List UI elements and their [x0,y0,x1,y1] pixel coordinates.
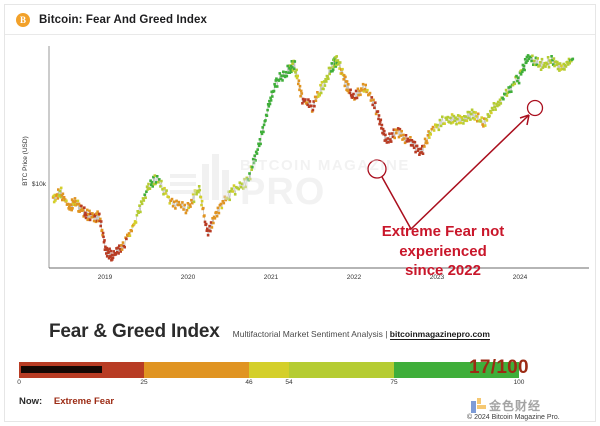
scatter-point [369,92,372,95]
current-point-circle-icon [528,101,543,116]
scatter-point [143,193,146,196]
fear-greed-index-heading: Fear & Greed Index Multifactorial Market… [49,321,490,343]
gauge-bar [19,362,519,378]
scatter-point [304,98,307,101]
score-value: 17/100 [469,357,529,379]
scatter-point [439,119,442,122]
scatter-point [243,178,246,181]
x-tick-label: 2021 [264,274,279,281]
scatter-point [60,187,63,190]
scatter-point [349,89,352,92]
scatter-point [293,67,296,70]
scatter-point [428,136,431,139]
scatter-point [465,115,468,118]
scatter-point [241,183,244,186]
x-tick-label: 2022 [347,274,362,281]
status-badge: Extreme Fear [54,396,114,407]
scatter-point [374,101,377,104]
x-tick-label: 2024 [513,274,528,281]
scatter-point [237,188,240,191]
scatter-point [63,196,66,199]
scatter-point [341,68,344,71]
gauge-value-indicator [21,366,102,373]
scatter-point [493,102,496,105]
scatter-point [232,190,235,193]
scatter-point [181,201,184,204]
scatter-point [550,55,553,58]
scatter-point [169,202,172,205]
scatter-point [443,122,446,125]
scatter-point [253,162,256,165]
scatter-point [366,89,369,92]
scatter-point [120,244,123,247]
scatter-point [447,116,450,119]
scatter-point [319,84,322,87]
scatter-point [426,142,429,145]
scatter-point [408,139,411,142]
scatter-point [259,138,262,141]
scatter-point [122,241,125,244]
now-label: Now: [19,396,42,407]
scatter-point [210,221,213,224]
scatter-point [370,99,373,102]
scatter-point [460,116,463,119]
scatter-point [269,103,272,106]
jinse-logo-icon [471,398,486,413]
last-extreme-fear-circle-icon [368,160,386,178]
scatter-point [159,185,162,188]
scatter-point [294,60,297,63]
scatter-point [200,196,203,199]
scatter-point [440,125,443,128]
scatter-point [477,113,480,116]
scatter-point [71,207,74,210]
scatter-point [244,186,247,189]
scatter-point [174,207,177,210]
gauge-tick: 75 [390,379,397,386]
scatter-point [242,187,245,190]
gauge-tick-labels: 025465475100 [19,379,519,391]
scatter-point [239,181,242,184]
scatter-point [108,248,111,251]
scatter-point [395,132,398,135]
scatter-point [400,130,403,133]
scatter-point [372,99,375,102]
scatter-point [427,134,430,137]
scatter-point [135,221,138,224]
scatter-point [411,144,414,147]
scatter-point [371,96,374,99]
scatter-point [429,133,432,136]
scatter-point [216,215,219,218]
scatter-point [403,137,406,140]
scatter-point [480,116,483,119]
scatter-point [88,210,91,213]
scatter-point [423,145,426,148]
scatter-point [572,58,575,61]
card-header: B Bitcoin: Fear And Greed Index [5,5,595,35]
scatter-point [301,92,304,95]
scatter-point [299,95,302,98]
scatter-point [490,112,493,115]
y-axis-label: BTC Price (USD) [22,136,29,185]
scatter-point [373,107,376,110]
scatter-point [102,232,105,235]
scatter-point [402,134,405,137]
current-status: Now: Extreme Fear [19,396,114,407]
gauge-tick: 100 [514,379,525,386]
scatter-point [380,119,383,122]
bitcoin-coin-icon: B [16,13,30,27]
scatter-point [259,143,262,146]
scatter-point [510,90,513,93]
scatter-point [54,199,57,202]
scatter-point [420,148,423,151]
jinse-finance-watermark: 金色财经 [471,397,541,414]
scatter-point [56,197,59,200]
gauge-segment [144,362,249,378]
scatter-point [298,79,301,82]
scatter-point [466,120,469,123]
scatter-point [82,209,85,212]
scatter-point [240,186,243,189]
scatter-point [531,55,534,58]
scatter-point [492,109,495,112]
scatter-point [173,201,176,204]
scatter-point [544,65,547,68]
scatter-point [87,213,90,216]
scatter-point [456,118,459,121]
scatter-point [546,63,549,66]
scatter-point [285,71,288,74]
scatter-point [295,69,298,72]
scatter-point [266,109,269,112]
scatter-point [417,148,420,151]
scatter-point [514,83,517,86]
scatter-point [339,61,342,64]
scatter-point [324,84,327,87]
scatter-point [327,78,330,81]
scatter-point [211,226,214,229]
x-tick-label: 2020 [181,274,196,281]
scatter-point [359,94,362,97]
v-arrow-icon [382,115,529,229]
scatter-point [163,187,166,190]
scatter-point [271,95,274,98]
scatter-point [390,140,393,143]
scatter-point [347,83,350,86]
scatter-point [178,201,181,204]
scatter-point [250,168,253,171]
scatter-point [253,154,256,157]
scatter-point [100,220,103,223]
gauge-tick: 46 [245,379,252,386]
scatter-point [125,238,128,241]
scatter-point [461,119,464,122]
scatter-point [548,66,551,69]
scatter-point [256,152,259,155]
scatter-point [228,199,231,202]
scatter-point [352,93,355,96]
scatter-point [358,90,361,93]
scatter-point [199,189,202,192]
scatter-point [102,236,105,239]
scatter-point [74,197,77,200]
scatter-point [157,181,160,184]
scatter-point [261,126,264,129]
scatter-point [280,74,283,77]
scatter-point [391,132,394,135]
scatter-point [387,141,390,144]
scatter-point [129,234,132,237]
scatter-point [414,141,417,144]
scatter-point [59,190,62,193]
scatter-point [518,82,521,85]
scatter-point [378,123,381,126]
scatter-point [281,79,284,82]
scatter-point [234,193,237,196]
scatter-point [342,78,345,81]
scatter-point [160,180,163,183]
scatter-point [248,172,251,175]
scatter-point [297,83,300,86]
scatter-point [480,120,483,123]
scatter-point [346,80,349,83]
scatter-point [138,204,141,207]
scatter-point [112,256,115,259]
scatter-point [524,58,527,61]
price-sentiment-chart: BTC Price (USD) $10k 2019 2020 2021 2022… [5,36,597,301]
scatter-point [208,225,211,228]
scatter-point [220,203,223,206]
scatter-point [77,200,80,203]
scatter-point [198,185,201,188]
scatter-point [474,111,477,114]
scatter-point [530,60,533,63]
x-tick-labels: 2019 2020 2021 2022 2023 2024 [98,274,528,281]
scatter-point [436,124,439,127]
scatter-point [180,206,183,209]
scatter-point [193,201,196,204]
scatter-point [212,222,215,225]
gauge-tick: 0 [17,379,21,386]
gauge-tick: 54 [285,379,292,386]
scatter-point [469,118,472,121]
scatter-point [182,208,185,211]
y-tick-label: $10k [32,181,47,188]
scatter-point [251,166,254,169]
scatter-point [221,207,224,210]
scatter-point [331,62,334,65]
scatter-point [263,124,266,127]
scatter-point [268,105,271,108]
scatter-point [200,204,203,207]
scatter-point [296,75,299,78]
scatter-point [322,88,325,91]
scatter-point [405,134,408,137]
scatter-point [165,189,168,192]
scatter-point [400,134,403,137]
scatter-point [86,209,89,212]
scatter-point [422,152,425,155]
scatter-point [136,214,139,217]
scatter-point [500,102,503,105]
scatter-point [486,119,489,122]
scatter-point [299,85,302,88]
scatter-point [262,131,265,134]
scatter-point [377,118,380,121]
scatter-point [254,159,257,162]
scatter-point [344,76,347,79]
scatter-point [329,67,332,70]
scatter-point [475,115,478,118]
scatter-point [145,190,148,193]
scatter-point [315,99,318,102]
scatter-point [539,61,542,64]
scatter-point [266,114,269,117]
scatter-point [381,124,384,127]
scatter-point [364,88,367,91]
scatter-point [364,84,367,87]
scatter-point [264,119,267,122]
scatter-point [190,199,193,202]
scatter-point [171,198,174,201]
scatter-point [282,71,285,74]
scatter-point [362,83,365,86]
scatter-point [273,83,276,86]
scatter-point [553,57,556,60]
scatter-point [413,147,416,150]
chart-canvas: BTC Price (USD) $10k 2019 2020 2021 2022… [5,36,597,301]
scatter-point [218,212,221,215]
scatter-point [123,246,126,249]
scatter-point [559,62,562,65]
scatter-point [147,183,150,186]
jinse-watermark-text: 金色财经 [489,397,541,414]
scatter-point [455,123,458,126]
scatter-point [144,196,147,199]
scatter-point [185,212,188,215]
scatter-point [154,174,157,177]
subtitle-text: Multifactorial Market Sentiment Analysis… [233,329,390,339]
scatter-point [313,105,316,108]
scatter-point [103,239,106,242]
scatter-point [312,109,315,112]
scatter-point [386,137,389,140]
scatter-point [460,122,463,125]
scatter-point [344,85,347,88]
scatter-point [270,99,273,102]
scatter-point [172,205,175,208]
scatter-point [320,92,323,95]
scatter-point [252,158,255,161]
scatter-point [547,56,550,59]
scatter-point [432,126,435,129]
scatter-point [201,200,204,203]
scatter-point [563,68,566,71]
scatter-point [110,250,113,253]
scatter-point [536,57,539,60]
scatter-point [194,189,197,192]
scatter-point [502,98,505,101]
scatter-point [310,105,313,108]
scatter-point [149,187,152,190]
fear-greed-scatter [52,54,574,261]
scatter-point [186,209,189,212]
scatter-point [98,213,101,216]
scatter-point [111,254,114,257]
section-subtitle: Multifactorial Market Sentiment Analysis… [233,329,490,339]
scatter-point [130,230,133,233]
scatter-point [517,76,520,79]
scatter-point [335,55,338,58]
scatter-point [99,218,102,221]
scatter-point [156,175,159,178]
copyright-text: © 2024 Bitcoin Magazine Pro. [467,414,560,421]
x-tick-label: 2023 [430,274,445,281]
gauge-tick: 25 [140,379,147,386]
scatter-point [549,61,552,64]
subtitle-link[interactable]: bitcoinmagazinepro.com [390,329,490,340]
scatter-point [388,132,391,135]
scatter-point [349,92,352,95]
scatter-point [230,187,233,190]
scatter-point [449,117,452,120]
scatter-point [409,136,412,139]
scatter-point [294,71,297,74]
fear-greed-gauge: 025465475100 [19,362,519,391]
scatter-point [484,124,487,127]
scatter-point [300,90,303,93]
scatter-point [538,64,541,67]
scatter-point [523,69,526,72]
scatter-point [383,130,386,133]
scatter-point [393,137,396,140]
scatter-point [309,100,312,103]
scatter-point [470,113,473,116]
scatter-point [523,65,526,68]
scatter-point [83,206,86,209]
scatter-point [332,68,335,71]
scatter-point [101,229,104,232]
scatter-point [99,225,102,228]
scatter-point [377,110,380,113]
scatter-point [433,129,436,132]
scatter-point [533,60,536,63]
scatter-point [325,80,328,83]
scatter-point [121,248,124,251]
scatter-point [217,207,220,210]
chart-card: B Bitcoin: Fear And Greed Index BTC Pric… [4,4,596,422]
scatter-point [384,134,387,137]
scatter-point [438,129,441,132]
scatter-point [453,120,456,123]
scatter-point [139,211,142,214]
scatter-point [371,104,374,107]
scatter-point [521,71,524,74]
scatter-point [202,207,205,210]
scatter-point [505,89,508,92]
scatter-point [107,251,110,254]
scatter-point [378,114,381,117]
page-title: Bitcoin: Fear And Greed Index [39,14,207,26]
scatter-point [441,116,444,119]
scatter-point [80,205,83,208]
scatter-point [205,223,208,226]
scatter-point [233,184,236,187]
scatter-point [473,118,476,121]
section-title: Fear & Greed Index [49,321,220,343]
